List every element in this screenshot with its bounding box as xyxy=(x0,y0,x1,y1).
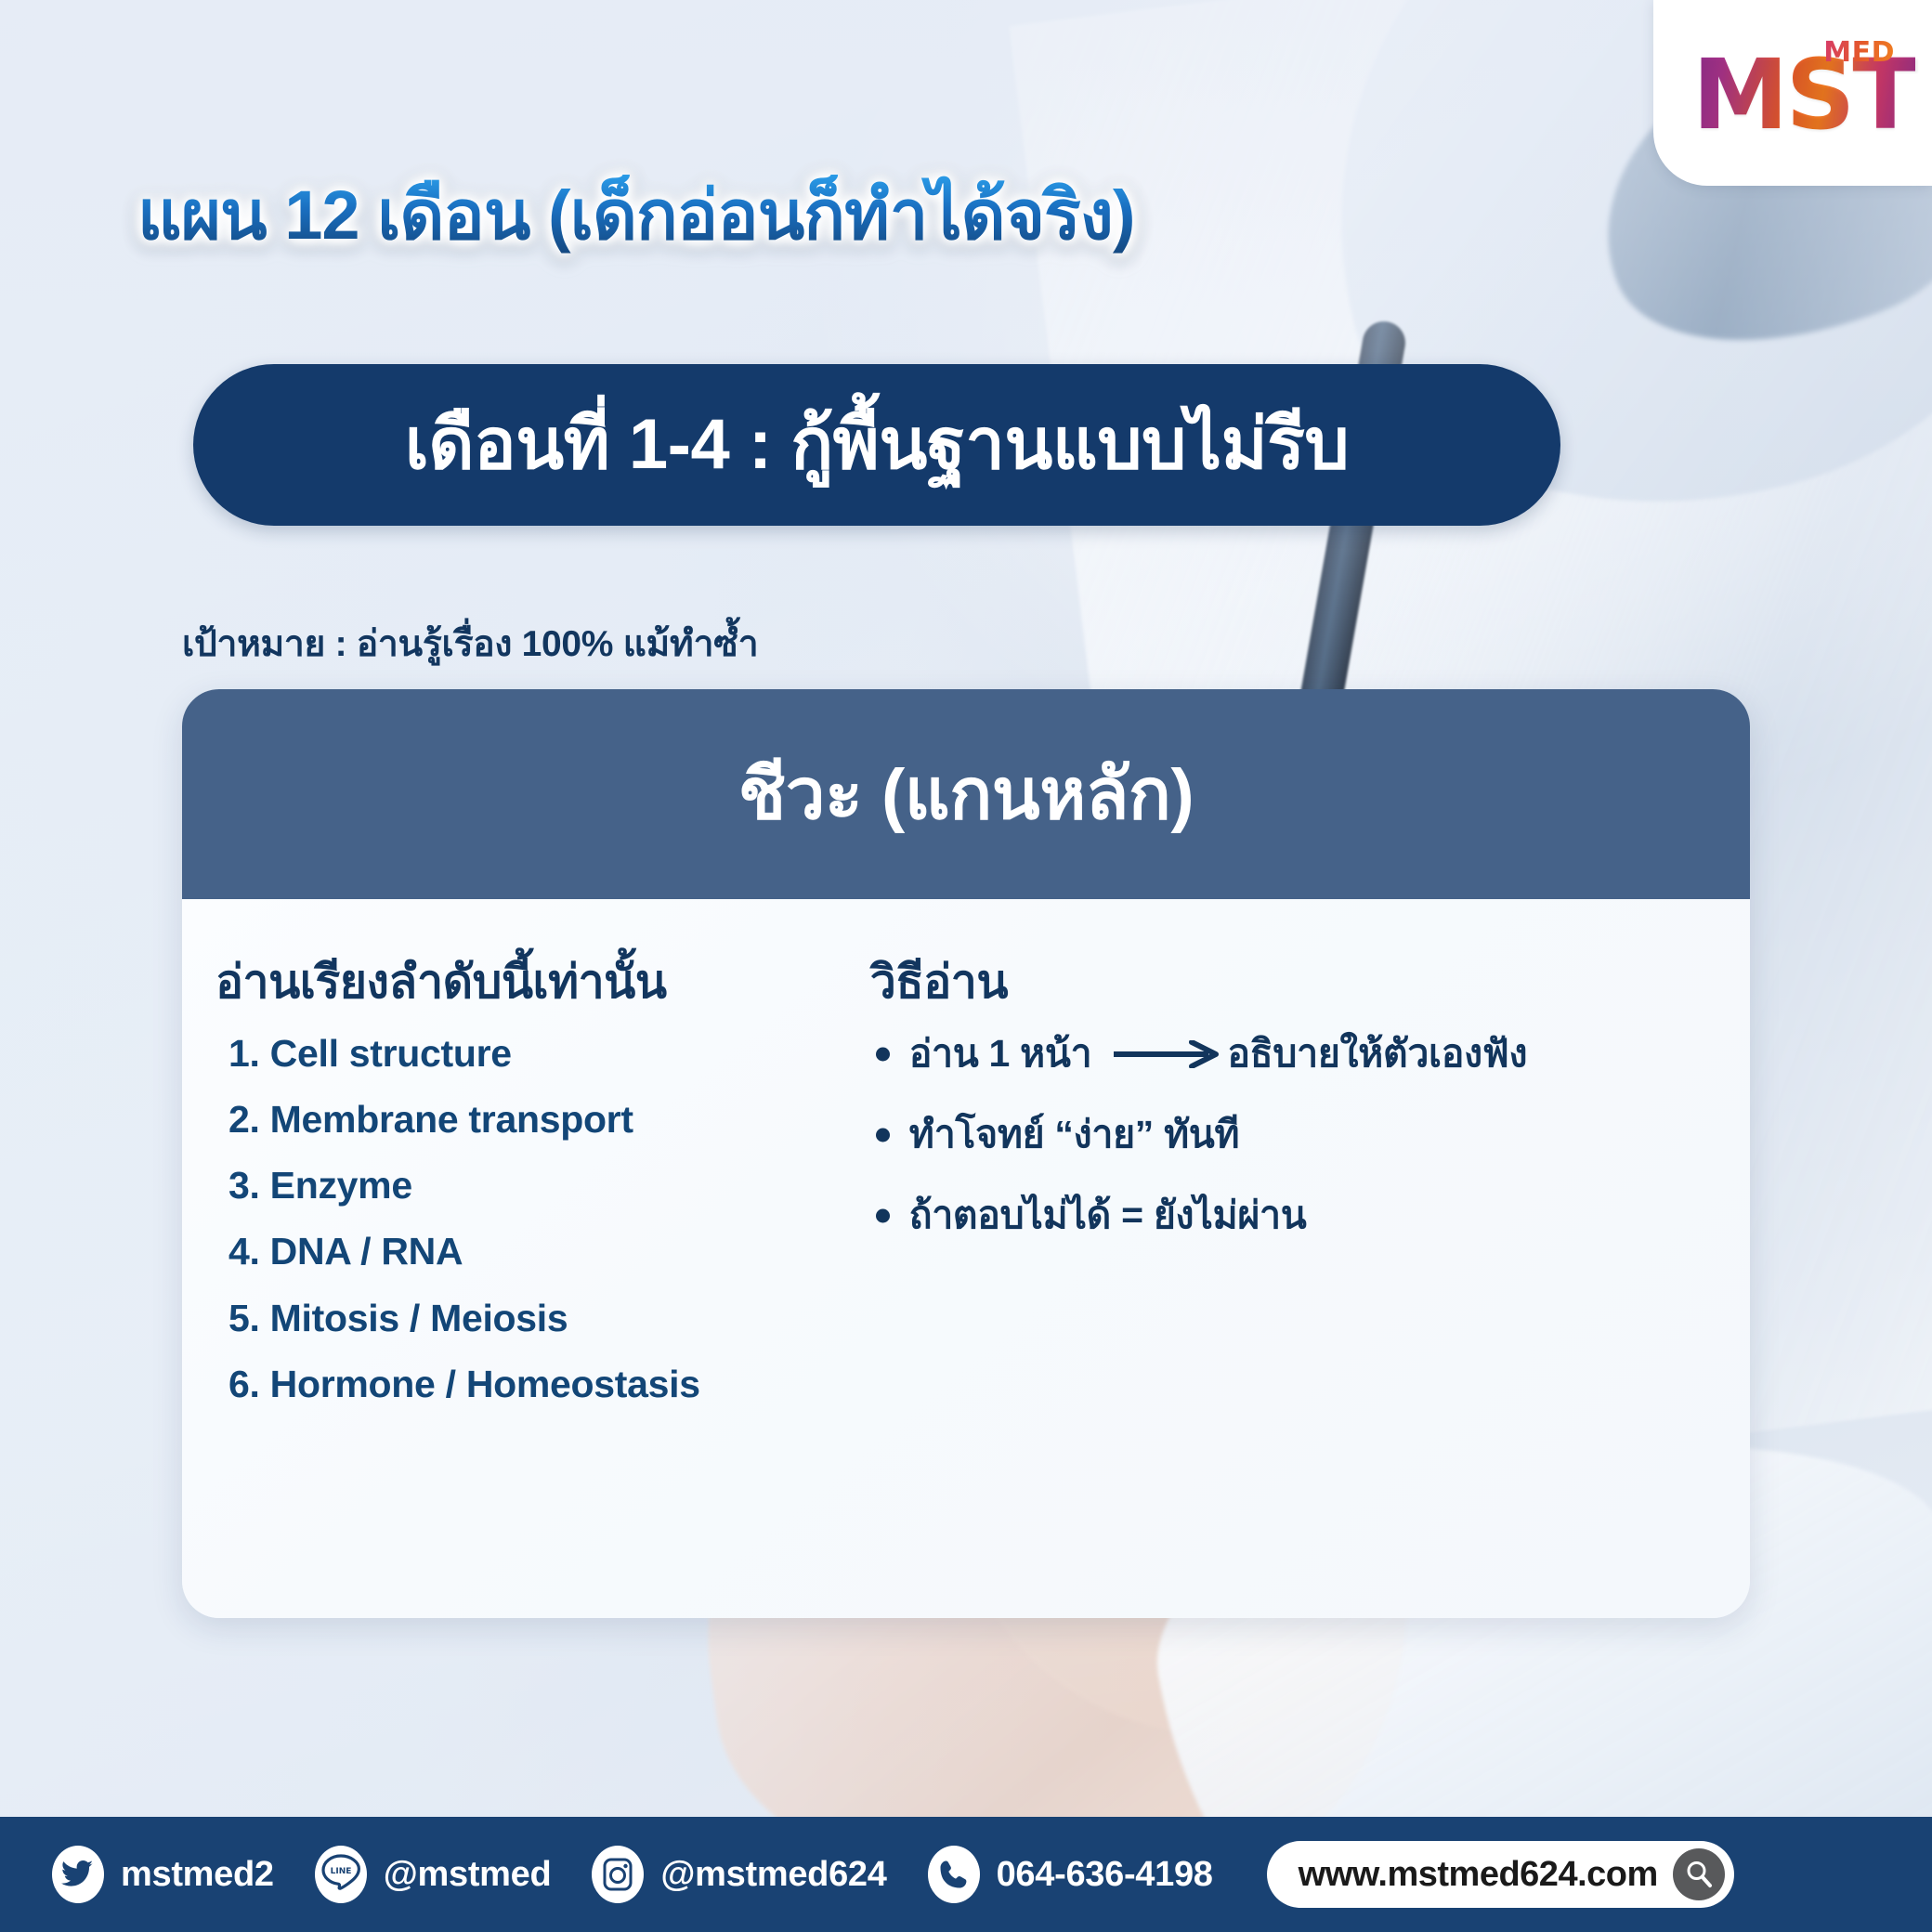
phone-icon xyxy=(928,1846,980,1903)
line-handle: @mstmed xyxy=(384,1855,552,1895)
line-icon: LINE xyxy=(315,1846,367,1903)
contact-footer: mstmed2 LINE @mstmed @mstmed624 xyxy=(0,1817,1932,1932)
bullet-text-before: ทำโจทย์ “ง่าย” ทันที xyxy=(909,1113,1240,1156)
method-column: วิธีอ่าน อ่าน 1 หน้า อธิบายให้ตัวเองฟัง xyxy=(861,957,1750,1618)
svg-text:LINE: LINE xyxy=(330,1867,351,1876)
list-item: 5. Mitosis / Meiosis xyxy=(228,1297,829,1340)
goal-line: เป้าหมาย : อ่านรู้เรื่อง 100% แม้ทำซ้ำ xyxy=(182,615,758,672)
website-url: www.mstmed624.com xyxy=(1299,1855,1658,1895)
list-item: 2. Membrane transport xyxy=(228,1098,829,1142)
list-item: 6. Hormone / Homeostasis xyxy=(228,1363,829,1406)
phone-number: 064-636-4198 xyxy=(997,1855,1213,1895)
reading-order-list: 1. Cell structure 2. Membrane transport … xyxy=(215,1032,829,1406)
background-veil-top xyxy=(0,0,1932,706)
content-card-body: อ่านเรียงลำดับนี้เท่านั้น 1. Cell struct… xyxy=(182,899,1750,1618)
twitter-handle: mstmed2 xyxy=(121,1855,274,1895)
list-item: ทำโจทย์ “ง่าย” ทันที xyxy=(870,1113,1718,1156)
reading-order-column: อ่านเรียงลำดับนี้เท่านั้น 1. Cell struct… xyxy=(182,957,861,1618)
list-item: อ่าน 1 หน้า อธิบายให้ตัวเองฟัง xyxy=(870,1032,1718,1076)
section-banner: เดือนที่ 1-4 : กู้พื้นฐานแบบไม่รีบ xyxy=(193,364,1560,526)
poster-canvas: MST MED แผน 12 เดือน (เด็กอ่อนก็ทำได้จริ… xyxy=(0,0,1932,1932)
content-card: ชีวะ (แกนหลัก) อ่านเรียงลำดับนี้เท่านั้น… xyxy=(182,689,1750,1618)
brand-logo-badge: MST MED xyxy=(1653,0,1932,186)
twitter-icon xyxy=(52,1846,104,1903)
reading-order-heading: อ่านเรียงลำดับนี้เท่านั้น xyxy=(215,957,829,1008)
logo-med-text: MED xyxy=(1823,39,1895,67)
bullet-text-before: อ่าน 1 หน้า xyxy=(909,1032,1092,1076)
list-item: 1. Cell structure xyxy=(228,1032,829,1076)
content-card-title: ชีวะ (แกนหลัก) xyxy=(738,738,1194,850)
footer-line[interactable]: LINE @mstmed xyxy=(315,1846,552,1903)
list-item: 3. Enzyme xyxy=(228,1164,829,1207)
instagram-icon xyxy=(592,1846,644,1903)
bullet-text-before: ถ้าตอบไม่ได้ = ยังไม่ผ่าน xyxy=(909,1194,1307,1237)
footer-twitter[interactable]: mstmed2 xyxy=(52,1846,274,1903)
list-item: ถ้าตอบไม่ได้ = ยังไม่ผ่าน xyxy=(870,1194,1718,1237)
page-title: แผน 12 เดือน (เด็กอ่อนก็ทำได้จริง) xyxy=(137,175,1345,255)
search-icon[interactable] xyxy=(1673,1848,1725,1900)
instagram-handle: @mstmed624 xyxy=(660,1855,886,1895)
method-heading: วิธีอ่าน xyxy=(870,957,1718,1008)
arrow-right-icon xyxy=(1112,1040,1223,1068)
list-item: 4. DNA / RNA xyxy=(228,1230,829,1273)
method-list: อ่าน 1 หน้า อธิบายให้ตัวเองฟัง ทำโจทย์ “… xyxy=(870,1032,1718,1237)
footer-phone[interactable]: 064-636-4198 xyxy=(928,1846,1213,1903)
section-banner-label: เดือนที่ 1-4 : กู้พื้นฐานแบบไม่รีบ xyxy=(405,410,1350,480)
footer-instagram[interactable]: @mstmed624 xyxy=(592,1846,886,1903)
bullet-text-after: อธิบายให้ตัวเองฟัง xyxy=(1227,1032,1527,1076)
logo-wrap: MST MED xyxy=(1692,37,1893,149)
content-card-header: ชีวะ (แกนหลัก) xyxy=(182,689,1750,899)
footer-website[interactable]: www.mstmed624.com xyxy=(1267,1841,1734,1908)
